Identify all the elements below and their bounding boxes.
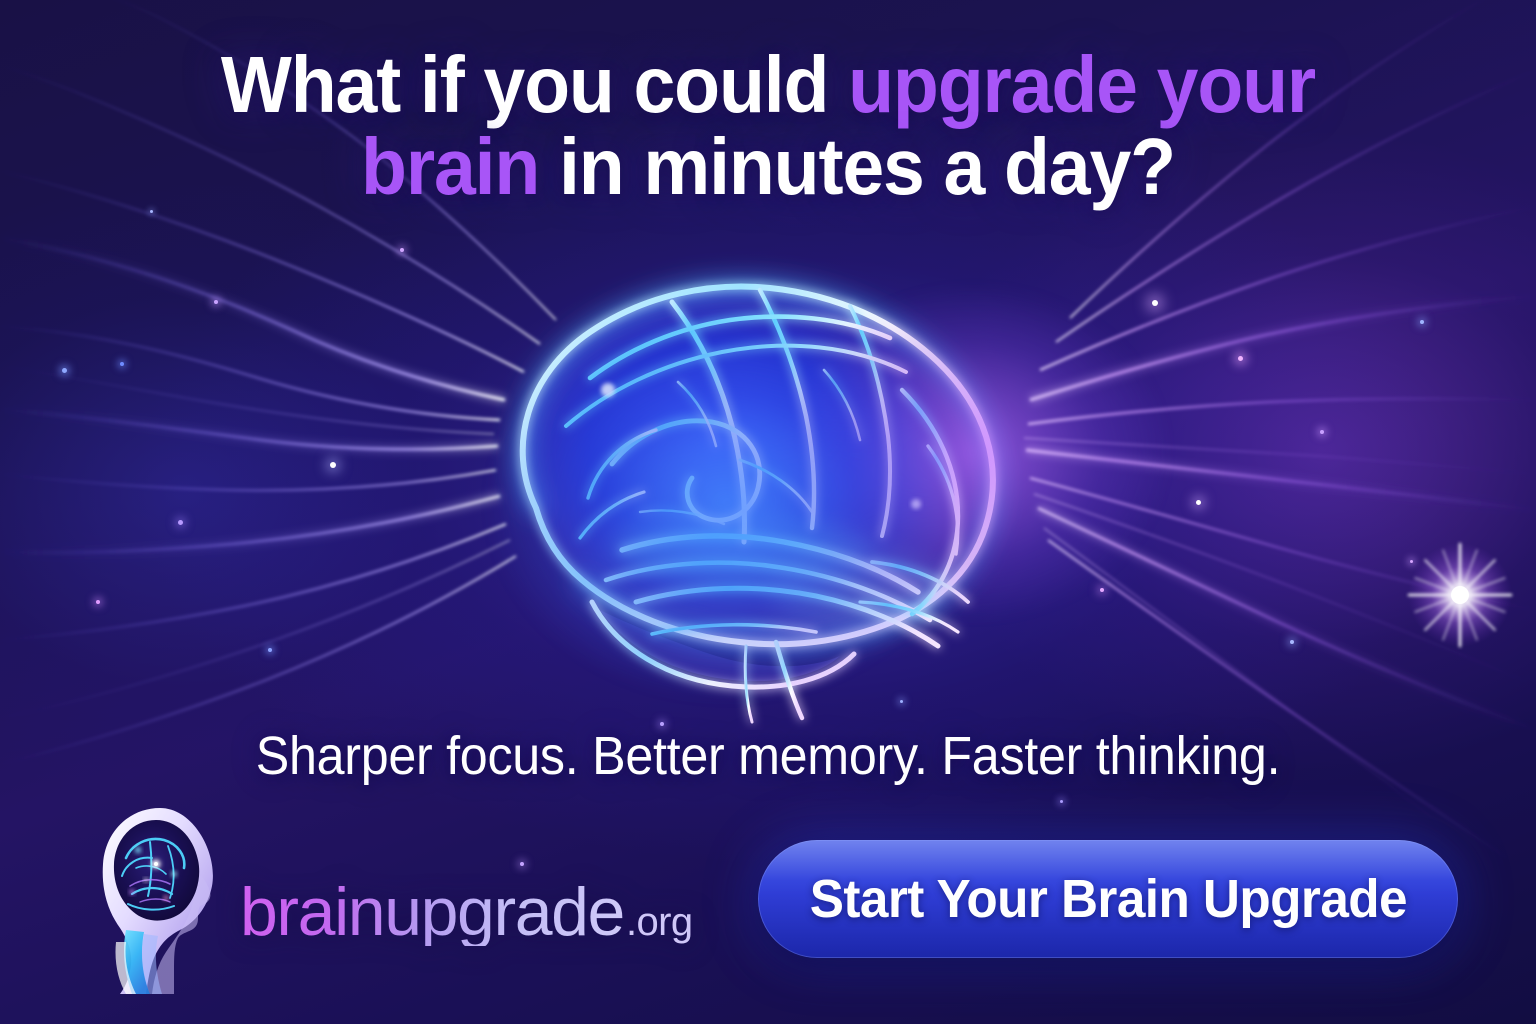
headline-accent-upgrade-your: upgrade your bbox=[848, 40, 1315, 129]
wordmark-tld: .org bbox=[626, 902, 693, 942]
cta-start-your-brain-upgrade-button[interactable]: Start Your Brain Upgrade bbox=[758, 840, 1458, 958]
headline: What if you could upgrade your brain in … bbox=[46, 44, 1490, 209]
wordmark[interactable]: brainupgrade.org bbox=[240, 878, 693, 946]
headline-text-plain: What if you could bbox=[221, 40, 848, 129]
head-brain-profile-icon[interactable] bbox=[96, 802, 226, 998]
brain-glow bbox=[350, 180, 1170, 800]
wordmark-name: brainupgrade bbox=[240, 878, 624, 946]
light-flare-icon bbox=[1405, 540, 1515, 650]
headline-line-1: What if you could upgrade your bbox=[221, 40, 1315, 129]
headline-line-2: brain in minutes a day? bbox=[361, 122, 1175, 211]
advertisement-banner: What if you could upgrade your brain in … bbox=[0, 0, 1536, 1024]
cta-label: Start Your Brain Upgrade bbox=[809, 868, 1406, 930]
hero-brain-image bbox=[440, 250, 1080, 730]
headline-accent-brain: brain bbox=[361, 122, 539, 211]
subheadline: Sharper focus. Better memory. Faster thi… bbox=[54, 725, 1482, 787]
headline-text-plain-2: in minutes a day? bbox=[539, 122, 1175, 211]
